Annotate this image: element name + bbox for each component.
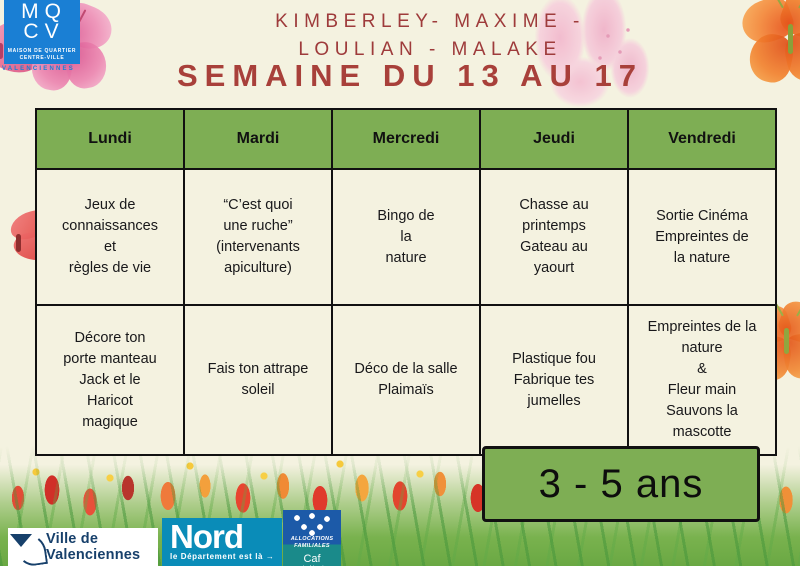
ville-de-valenciennes-label: Ville de Valenciennes	[46, 531, 140, 563]
age-group-label: 3 - 5 ans	[539, 462, 704, 507]
mqcv-logo-city: VALENCIENNES	[2, 66, 82, 72]
planning-header-row: Lundi Mardi Mercredi Jeudi Vendredi	[36, 109, 776, 169]
table-row: Décore ton porte manteau Jack et le Hari…	[36, 305, 776, 455]
caf-allocations-label: ALLOCATIONS FAMILIALES	[283, 536, 341, 550]
column-header-mardi: Mardi	[184, 109, 332, 169]
week-title: SEMAINE DU 13 AU 17	[60, 58, 760, 94]
poster-canvas: MQ CV MAISON DE QUARTIER CENTRE-VILLE VA…	[0, 0, 800, 566]
activity-cell: Décore ton porte manteau Jack et le Hari…	[36, 305, 184, 455]
activity-cell: Fais ton attrape soleil	[184, 305, 332, 455]
nord-logo-tagline: le Département est là →	[170, 552, 275, 561]
caf-du-nord-logo: ALLOCATIONS FAMILIALES Caf du Nord	[283, 510, 341, 566]
activity-cell: “C’est quoi une ruche” (intervenants api…	[184, 169, 332, 305]
activity-cell: Bingo de la nature	[332, 169, 480, 305]
weekly-planning-table: Lundi Mardi Mercredi Jeudi Vendredi Jeux…	[35, 108, 777, 456]
mqcv-logo-letters: MQ CV	[4, 2, 80, 42]
activity-cell: Sortie Cinéma Empreintes de la nature	[628, 169, 776, 305]
valenciennes-crest-icon	[8, 530, 46, 564]
caf-birds-icon	[283, 512, 341, 536]
activity-cell: Chasse au printemps Gateau au yaourt	[480, 169, 628, 305]
age-group-badge: 3 - 5 ans	[482, 446, 760, 522]
nord-logo-label: Nord	[170, 518, 243, 556]
caf-logo-label: Caf	[283, 553, 341, 565]
column-header-mercredi: Mercredi	[332, 109, 480, 169]
departement-nord-logo: Nord le Département est là →	[162, 518, 282, 566]
activity-cell: Plastique fou Fabrique tes jumelles	[480, 305, 628, 455]
activity-cell: Empreintes de la nature & Fleur main Sau…	[628, 305, 776, 455]
table-row: Jeux de connaissances et règles de vie “…	[36, 169, 776, 305]
planning-body: Jeux de connaissances et règles de vie “…	[36, 169, 776, 455]
activity-cell: Déco de la salle Plaimaïs	[332, 305, 480, 455]
column-header-jeudi: Jeudi	[480, 109, 628, 169]
activity-cell: Jeux de connaissances et règles de vie	[36, 169, 184, 305]
column-header-lundi: Lundi	[36, 109, 184, 169]
kids-names-heading: KIMBERLEY- MAXIME - LOULIAN - MALAKE	[150, 8, 710, 64]
column-header-vendredi: Vendredi	[628, 109, 776, 169]
planning-header: Lundi Mardi Mercredi Jeudi Vendredi	[36, 109, 776, 169]
ville-de-valenciennes-logo: Ville de Valenciennes	[8, 528, 158, 566]
mqcv-logo: MQ CV MAISON DE QUARTIER CENTRE-VILLE	[4, 0, 80, 64]
mqcv-logo-subtitle: MAISON DE QUARTIER CENTRE-VILLE	[4, 48, 80, 61]
